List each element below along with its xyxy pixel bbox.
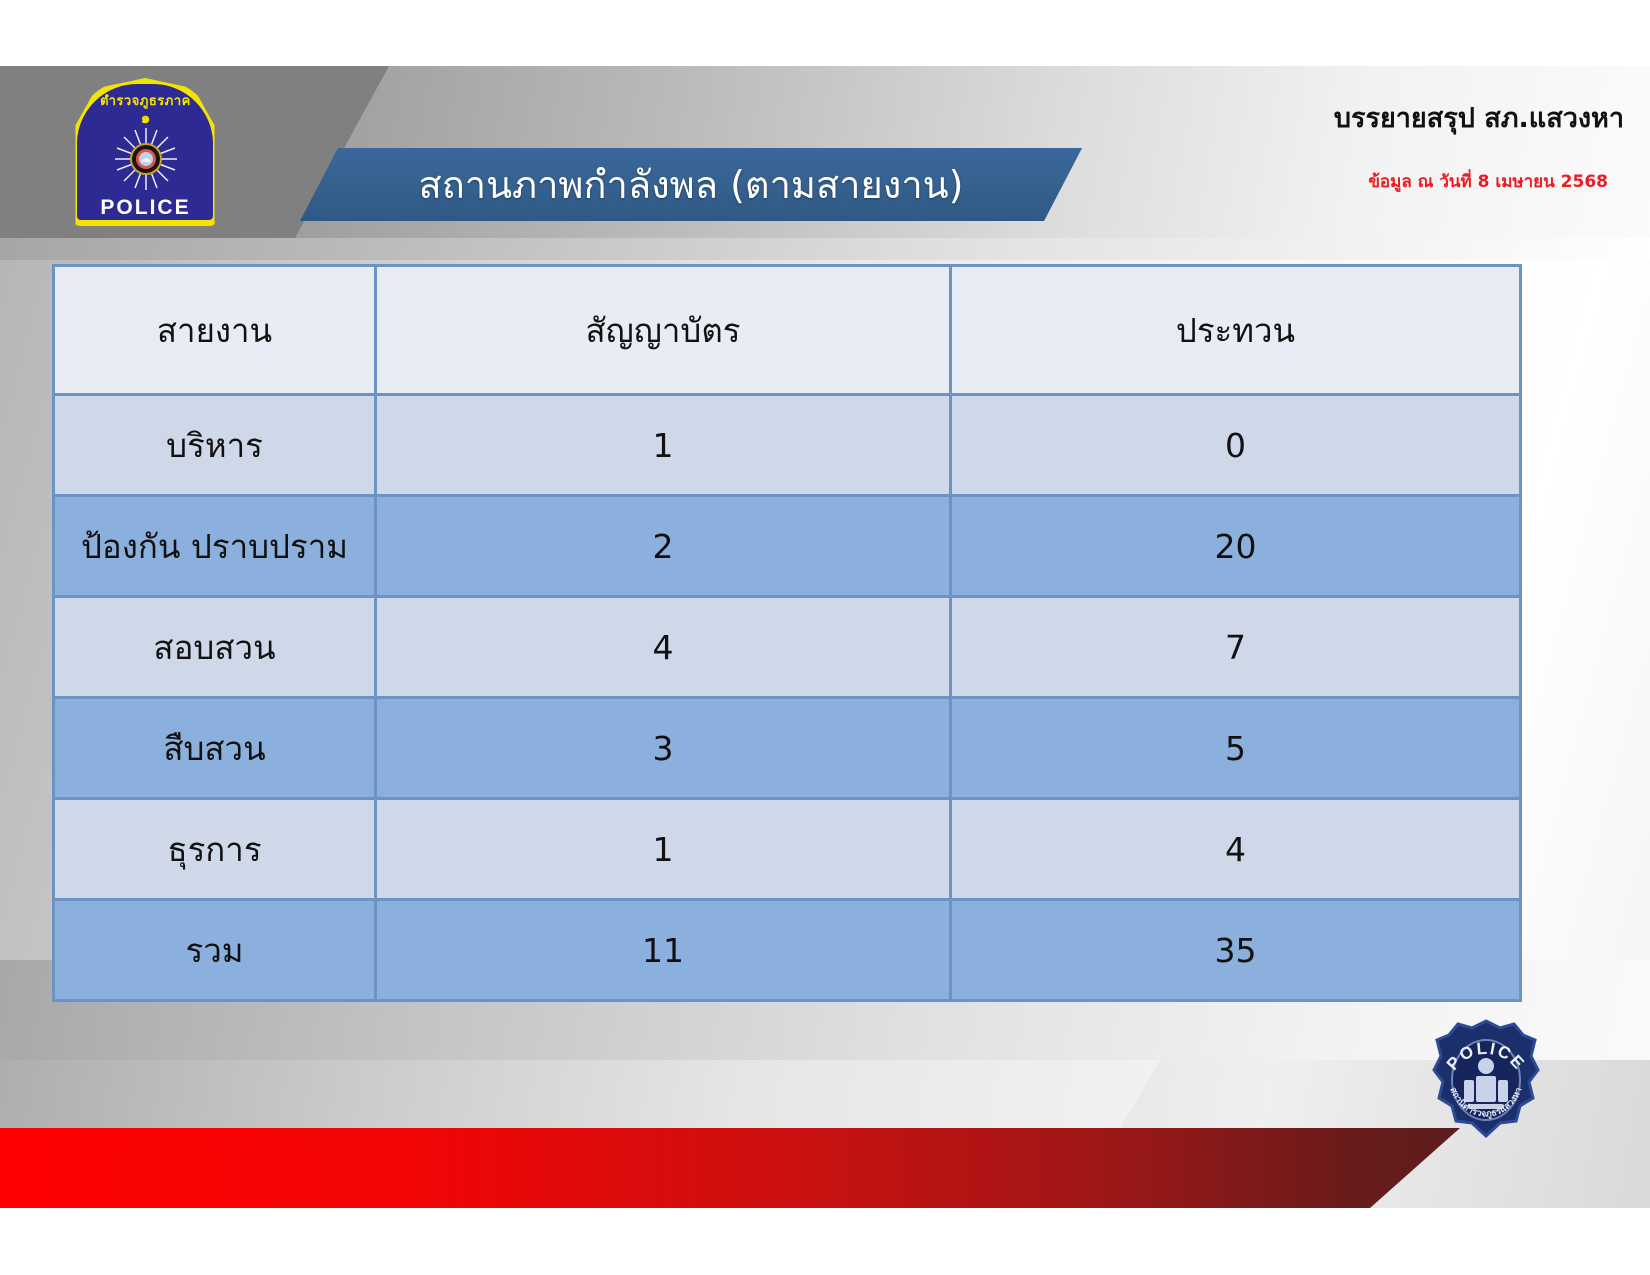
table-row: ธุรการ 1 4: [54, 799, 1521, 900]
cell-commissioned: 3: [376, 698, 951, 799]
table-row: ป้องกัน ปราบปราม 2 20: [54, 496, 1521, 597]
cell-branch: สืบสวน: [54, 698, 376, 799]
cell-commissioned: 4: [376, 597, 951, 698]
cell-branch: บริหาร: [54, 395, 376, 496]
column-header-commissioned: สัญญาบัตร: [376, 266, 951, 395]
cell-non-commissioned: 7: [951, 597, 1521, 698]
header-underline-strip: [0, 238, 1650, 260]
table-row: บริหาร 1 0: [54, 395, 1521, 496]
cell-commissioned: 11: [376, 900, 951, 1001]
header-subject-title: บรรยายสรุป สภ.แสวงหา: [1334, 96, 1624, 139]
cell-branch: สอบสวน: [54, 597, 376, 698]
cell-commissioned: 1: [376, 799, 951, 900]
footer-red-bar: [0, 1128, 1460, 1208]
cell-commissioned: 2: [376, 496, 951, 597]
header-white-strip: [0, 0, 1650, 66]
table-row: สอบสวน 4 7: [54, 597, 1521, 698]
patch-starburst-icon: [113, 126, 179, 192]
page-title: สถานภาพกำลังพล (ตามสายงาน): [300, 148, 1082, 221]
table-header-row: สายงาน สัญญาบัตร ประทวน: [54, 266, 1521, 395]
table-row-total: รวม 11 35: [54, 900, 1521, 1001]
slide-root: ตำรวจภูธรภาค ๑ POLICE: [0, 0, 1650, 1275]
patch-bottom-label: POLICE: [63, 196, 228, 220]
column-header-branch: สายงาน: [54, 266, 376, 395]
header-date-note: ข้อมูล ณ วันที่ 8 เมษายน 2568: [1368, 168, 1608, 195]
cell-branch: รวม: [54, 900, 376, 1001]
cell-branch: ป้องกัน ปราบปราม: [54, 496, 376, 597]
police-shoulder-patch-icon: ตำรวจภูธรภาค ๑ POLICE: [63, 68, 228, 233]
cell-branch: ธุรการ: [54, 799, 376, 900]
police-shield-badge-icon: POLICE สถานีตำรวจภูธรแสวงหา: [1430, 1018, 1542, 1143]
cell-non-commissioned: 5: [951, 698, 1521, 799]
footer-white-strip: [0, 1208, 1650, 1275]
cell-non-commissioned: 0: [951, 395, 1521, 496]
cell-non-commissioned: 35: [951, 900, 1521, 1001]
title-banner: สถานภาพกำลังพล (ตามสายงาน): [300, 148, 1082, 221]
table-row: สืบสวน 3 5: [54, 698, 1521, 799]
cell-non-commissioned: 20: [951, 496, 1521, 597]
column-header-non-commissioned: ประทวน: [951, 266, 1521, 395]
personnel-table: สายงาน สัญญาบัตร ประทวน บริหาร 1 0 ป้องก…: [52, 264, 1522, 1002]
cell-non-commissioned: 4: [951, 799, 1521, 900]
cell-commissioned: 1: [376, 395, 951, 496]
